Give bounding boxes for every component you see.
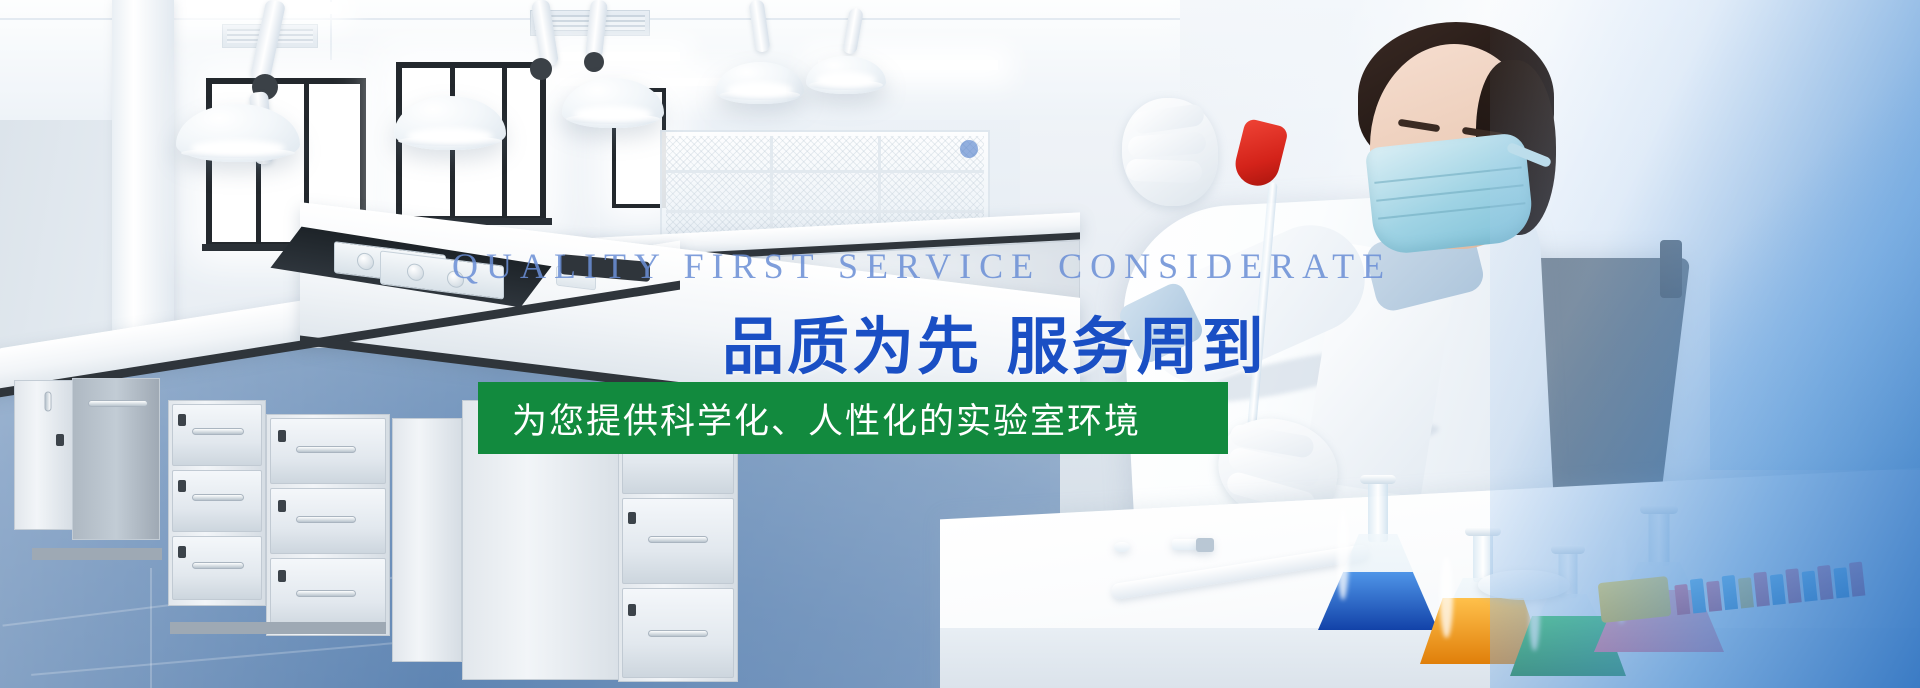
english-tagline: QUALITY FIRST SERVICE CONSIDERATE	[452, 245, 1392, 287]
headline: 品质为先 服务周到	[722, 296, 1267, 386]
text-overlay: QUALITY FIRST SERVICE CONSIDERATE 品质为先 服…	[0, 0, 1920, 688]
subheadline-banner: 为您提供科学化、人性化的实验室环境	[478, 382, 1228, 454]
subheadline-text: 为您提供科学化、人性化的实验室环境	[478, 393, 1141, 444]
lab-furniture-hero-banner: QUALITY FIRST SERVICE CONSIDERATE 品质为先 服…	[0, 0, 1920, 688]
